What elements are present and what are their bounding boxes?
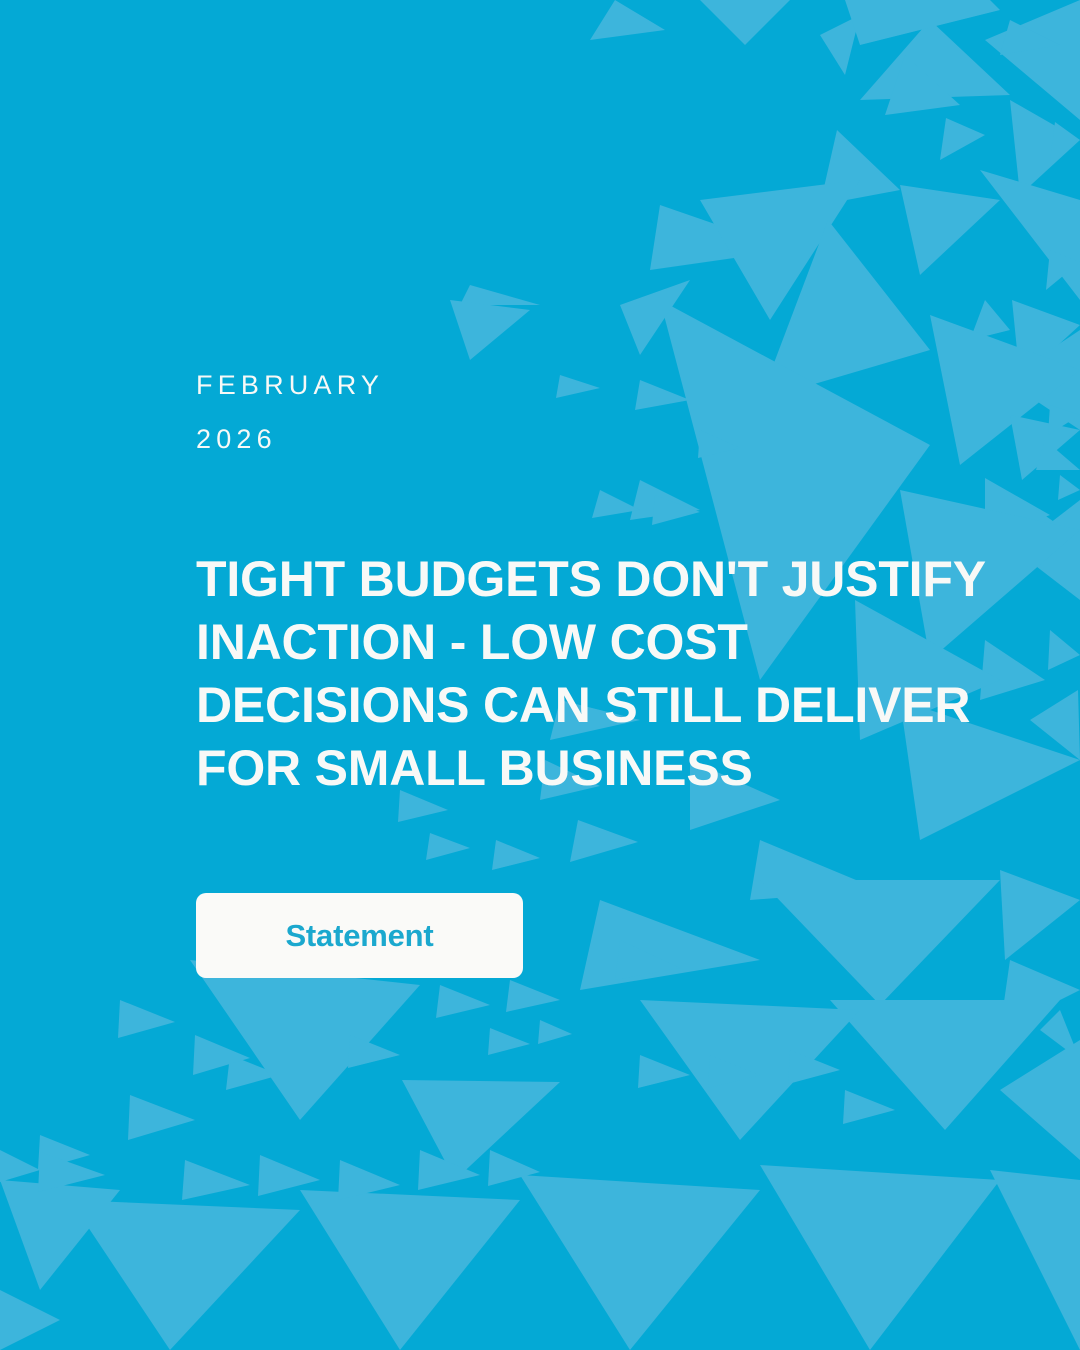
social-card: FEBRUARY 2026 TIGHT BUDGETS DON'T JUSTIF…: [0, 0, 1080, 1350]
headline-line-4: FOR SMALL BUSINESS: [196, 737, 996, 800]
date-block: FEBRUARY 2026: [196, 358, 756, 466]
headline-line-1: TIGHT BUDGETS DON'T JUSTIFY: [196, 548, 996, 611]
statement-button[interactable]: Statement: [196, 893, 523, 978]
page-title: TIGHT BUDGETS DON'T JUSTIFY INACTION - L…: [196, 548, 996, 800]
headline-line-2: INACTION - LOW COST: [196, 611, 996, 674]
statement-button-label: Statement: [285, 920, 433, 951]
headline-line-3: DECISIONS CAN STILL DELIVER: [196, 674, 996, 737]
card-content: FEBRUARY 2026 TIGHT BUDGETS DON'T JUSTIF…: [0, 0, 1080, 1350]
date-month: FEBRUARY: [196, 358, 756, 412]
date-year: 2026: [196, 412, 756, 466]
